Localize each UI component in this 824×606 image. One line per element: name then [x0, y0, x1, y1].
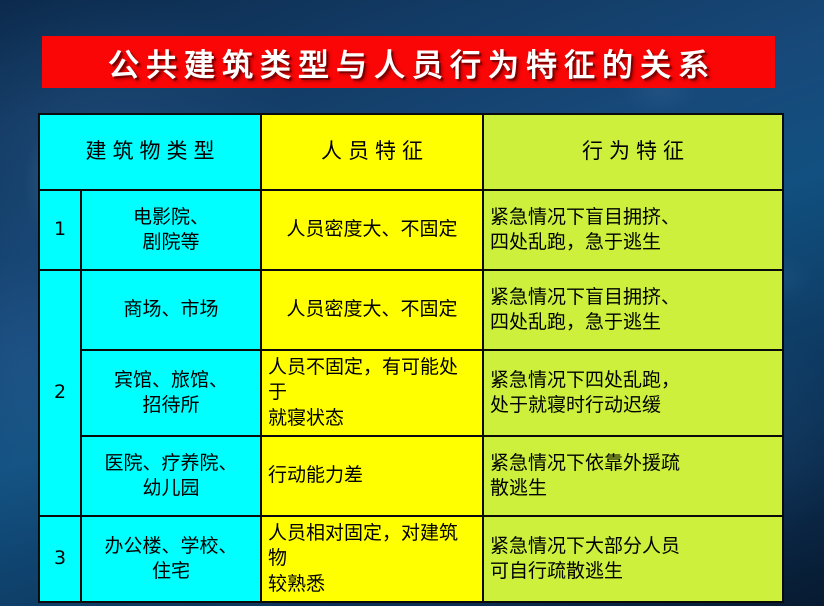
row-number: 2: [39, 270, 81, 516]
cell-behavior-traits: 紧急情况下四处乱跑，处于就寝时行动迟缓: [483, 350, 783, 436]
table-row: 医院、疗养院、幼儿园 行动能力差 紧急情况下依靠外援疏散逃生: [39, 436, 783, 516]
cell-people-traits: 人员相对固定，对建筑物较熟悉: [261, 516, 483, 602]
cell-behavior-traits: 紧急情况下依靠外援疏散逃生: [483, 436, 783, 516]
relationship-table-container: 建筑物类型 人员特征 行为特征 1 电影院、剧院等 人员密度大、不固定 紧急情况…: [38, 113, 782, 603]
table-row: 1 电影院、剧院等 人员密度大、不固定 紧急情况下盲目拥挤、四处乱跑，急于逃生: [39, 190, 783, 270]
header-behavior-traits: 行为特征: [483, 114, 783, 190]
table-row: 2 商场、市场 人员密度大、不固定 紧急情况下盲目拥挤、四处乱跑，急于逃生: [39, 270, 783, 350]
slide-canvas: 公共建筑类型与人员行为特征的关系 建筑物类型 人员特征 行为特征 1 电影院、剧…: [0, 0, 824, 606]
cell-people-traits: 行动能力差: [261, 436, 483, 516]
header-building-type: 建筑物类型: [39, 114, 261, 190]
slide-title-bar: 公共建筑类型与人员行为特征的关系: [42, 36, 775, 88]
cell-building-type: 办公楼、学校、住宅: [81, 516, 261, 602]
cell-building-type: 商场、市场: [81, 270, 261, 350]
table-row: 3 办公楼、学校、住宅 人员相对固定，对建筑物较熟悉 紧急情况下大部分人员可自行…: [39, 516, 783, 602]
cell-people-traits: 人员密度大、不固定: [261, 190, 483, 270]
cell-building-type: 电影院、剧院等: [81, 190, 261, 270]
cell-building-type: 宾馆、旅馆、招待所: [81, 350, 261, 436]
header-people-traits: 人员特征: [261, 114, 483, 190]
table-row: 宾馆、旅馆、招待所 人员不固定，有可能处于就寝状态 紧急情况下四处乱跑，处于就寝…: [39, 350, 783, 436]
cell-people-traits: 人员密度大、不固定: [261, 270, 483, 350]
row-number: 3: [39, 516, 81, 602]
cell-behavior-traits: 紧急情况下盲目拥挤、四处乱跑，急于逃生: [483, 190, 783, 270]
row-number: 1: [39, 190, 81, 270]
page-title: 公共建筑类型与人员行为特征的关系: [101, 40, 716, 85]
cell-behavior-traits: 紧急情况下大部分人员可自行疏散逃生: [483, 516, 783, 602]
cell-building-type: 医院、疗养院、幼儿园: [81, 436, 261, 516]
relationship-table: 建筑物类型 人员特征 行为特征 1 电影院、剧院等 人员密度大、不固定 紧急情况…: [38, 113, 784, 603]
cell-people-traits: 人员不固定，有可能处于就寝状态: [261, 350, 483, 436]
cell-behavior-traits: 紧急情况下盲目拥挤、四处乱跑，急于逃生: [483, 270, 783, 350]
table-header-row: 建筑物类型 人员特征 行为特征: [39, 114, 783, 190]
